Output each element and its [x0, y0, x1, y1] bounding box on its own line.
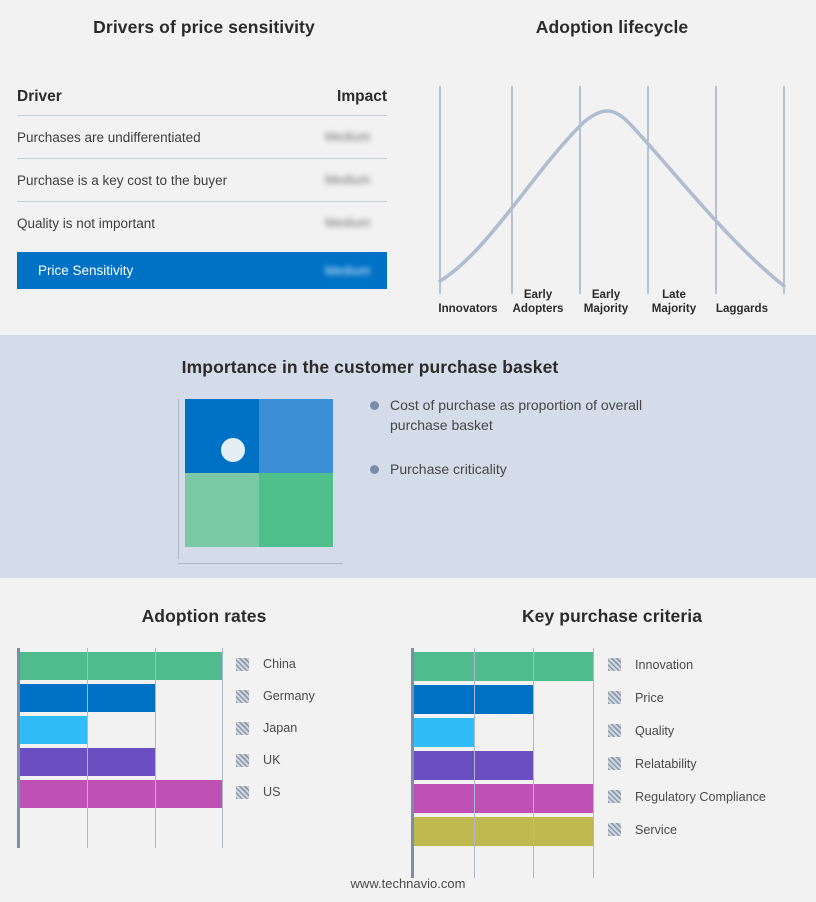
bar-row	[414, 718, 593, 747]
quadrant-cell-bottom-left	[185, 473, 259, 547]
quadrant-position-marker	[221, 438, 245, 462]
legend-label: Quality	[635, 724, 674, 738]
legend-item-relatability: Relatability	[608, 747, 766, 780]
bar-row	[20, 684, 222, 712]
lifecycle-dividers	[440, 86, 784, 294]
lifecycle-bell-curve	[416, 72, 808, 297]
legend-label: Germany	[263, 689, 315, 703]
legend-swatch-icon	[236, 658, 249, 671]
legend-label: Service	[635, 823, 677, 837]
quadrant-chart	[178, 399, 343, 564]
legend-item-china: China	[236, 648, 315, 680]
bar-china	[20, 652, 222, 680]
legend-label: Japan	[263, 721, 297, 735]
driver-label: Purchases are undifferentiated	[17, 130, 201, 145]
importance-legend: Cost of purchase as proportion of overal…	[370, 395, 670, 503]
legend-label: Price	[635, 691, 664, 705]
adoption-rates-panel: Adoption rates ChinaGermanyJapanUKUS	[0, 578, 408, 902]
lifecycle-title: Adoption lifecycle	[408, 17, 816, 38]
bar-regulatory-compliance	[414, 784, 593, 813]
key-purchase-criteria-title: Key purchase criteria	[408, 606, 816, 627]
lifecycle-stage-innovators: Innovators	[432, 283, 504, 315]
gridline	[593, 648, 594, 878]
driver-label: Quality is not important	[17, 216, 155, 231]
legend-item-quality: Quality	[608, 714, 766, 747]
lifecycle-stage-late-majority: Late Majority	[640, 283, 708, 315]
summary-impact-value: Medium	[325, 264, 387, 278]
legend-label: Cost of purchase as proportion of overal…	[390, 395, 670, 435]
summary-label: Price Sensitivity	[38, 263, 133, 278]
bar-row	[414, 751, 593, 780]
legend-swatch-icon	[608, 691, 621, 704]
bar-row	[414, 652, 593, 681]
key-purchase-criteria-plot	[411, 648, 593, 878]
drivers-title: Drivers of price sensitivity	[0, 17, 408, 38]
legend-item-japan: Japan	[236, 712, 315, 744]
bar-row	[20, 748, 222, 776]
legend-label: UK	[263, 753, 281, 767]
legend-swatch-icon	[608, 823, 621, 836]
legend-swatch-icon	[236, 754, 249, 767]
drivers-table: Driver Impact Purchases are undifferenti…	[17, 88, 387, 289]
drivers-panel: Drivers of price sensitivity Driver Impa…	[0, 0, 408, 335]
adoption-rates-plot	[17, 648, 222, 848]
price-sensitivity-summary-row: Price Sensitivity Medium	[17, 252, 387, 289]
impact-value: Medium	[325, 130, 387, 144]
adoption-rates-bars	[20, 648, 222, 848]
legend-item-uk: UK	[236, 744, 315, 776]
table-row: Purchase is a key cost to the buyer Medi…	[17, 158, 387, 201]
legend-swatch-icon	[608, 757, 621, 770]
bar-row	[20, 652, 222, 680]
legend-label: US	[263, 785, 281, 799]
gridline	[474, 648, 475, 878]
column-header-driver: Driver	[17, 88, 62, 106]
lifecycle-panel: Adoption lifecycle Innovators Early Adop…	[408, 0, 816, 335]
gridline	[533, 648, 534, 878]
bar-row	[20, 716, 222, 744]
bar-row	[414, 685, 593, 714]
legend-swatch-icon	[608, 790, 621, 803]
bar-japan	[20, 716, 87, 744]
bar-us	[20, 780, 222, 808]
legend-item-price: Price	[608, 681, 766, 714]
list-item: Purchase criticality	[370, 459, 670, 479]
bar-row	[414, 784, 593, 813]
legend-item-germany: Germany	[236, 680, 315, 712]
quadrant-x-axis	[178, 563, 343, 564]
table-row: Quality is not important Medium	[17, 201, 387, 244]
lifecycle-stage-early-majority: Early Majority	[572, 283, 640, 315]
legend-label: Innovation	[635, 658, 693, 672]
impact-value: Medium	[325, 216, 387, 230]
quadrant-y-axis	[178, 399, 179, 559]
legend-swatch-icon	[608, 658, 621, 671]
impact-value: Medium	[325, 173, 387, 187]
key-purchase-criteria-panel: Key purchase criteria InnovationPriceQua…	[408, 578, 816, 902]
legend-item-service: Service	[608, 813, 766, 846]
legend-swatch-icon	[236, 786, 249, 799]
bar-quality	[414, 718, 474, 747]
key-purchase-criteria-legend: InnovationPriceQualityRelatabilityRegula…	[608, 648, 766, 846]
bullet-icon	[370, 465, 379, 474]
lifecycle-stage-laggards: Laggards	[708, 283, 776, 315]
importance-title: Importance in the customer purchase bask…	[0, 357, 740, 378]
quadrant-cell-top-right	[259, 399, 333, 473]
list-item: Cost of purchase as proportion of overal…	[370, 395, 670, 435]
bar-innovation	[414, 652, 593, 681]
legend-swatch-icon	[236, 722, 249, 735]
drivers-table-header: Driver Impact	[17, 88, 387, 115]
legend-label: Regulatory Compliance	[635, 790, 766, 804]
bar-row	[20, 780, 222, 808]
legend-swatch-icon	[608, 724, 621, 737]
legend-label: Relatability	[635, 757, 697, 771]
legend-item-innovation: Innovation	[608, 648, 766, 681]
table-row: Purchases are undifferentiated Medium	[17, 115, 387, 158]
gridline	[155, 648, 156, 848]
gridline	[87, 648, 88, 848]
bullet-icon	[370, 401, 379, 410]
legend-swatch-icon	[236, 690, 249, 703]
legend-item-us: US	[236, 776, 315, 808]
bar-service	[414, 817, 593, 846]
gridline	[222, 648, 223, 848]
column-header-impact: Impact	[337, 88, 387, 106]
importance-panel: Importance in the customer purchase bask…	[0, 335, 816, 578]
legend-label: Purchase criticality	[390, 459, 507, 479]
lifecycle-stage-labels: Innovators Early Adopters Early Majority…	[432, 283, 792, 315]
quadrant-cells	[185, 399, 333, 547]
lifecycle-stage-early-adopters: Early Adopters	[504, 283, 572, 315]
legend-item-regulatory-compliance: Regulatory Compliance	[608, 780, 766, 813]
footer-url: www.technavio.com	[0, 876, 816, 891]
bar-row	[414, 817, 593, 846]
legend-label: China	[263, 657, 296, 671]
quadrant-cell-bottom-right	[259, 473, 333, 547]
adoption-rates-title: Adoption rates	[0, 606, 408, 627]
key-purchase-criteria-bars	[414, 648, 593, 878]
quadrant-cell-top-left	[185, 399, 259, 473]
driver-label: Purchase is a key cost to the buyer	[17, 173, 227, 188]
adoption-rates-legend: ChinaGermanyJapanUKUS	[236, 648, 315, 808]
bell-curve-path	[440, 111, 784, 286]
